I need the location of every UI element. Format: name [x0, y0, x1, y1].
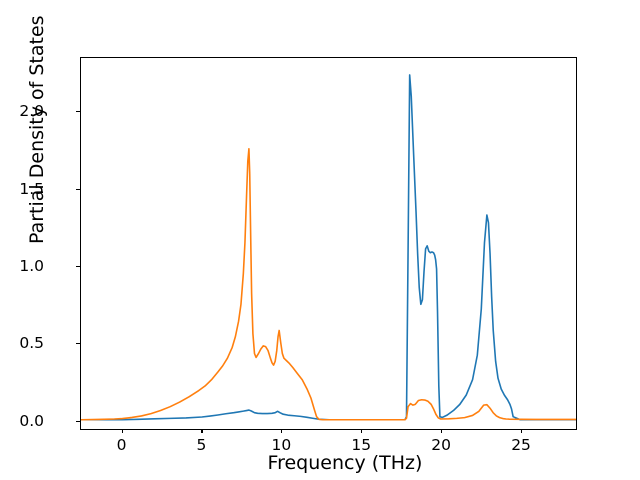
x-tick-mark	[521, 429, 522, 433]
y-tick-label: 0.5	[19, 334, 44, 352]
y-tick-label: 1.0	[19, 257, 44, 275]
x-tick-mark	[441, 429, 442, 433]
plot-svg	[81, 58, 576, 429]
y-tick-mark	[76, 111, 80, 112]
x-tick-mark	[122, 429, 123, 433]
y-tick-mark	[76, 266, 80, 267]
figure-canvas: 0510152025 0.00.51.01.52.0 Frequency (TH…	[0, 0, 640, 480]
x-axis-label-text: Frequency (THz)	[268, 452, 423, 474]
y-axis-label: Partial Density of States	[26, 15, 48, 244]
y-tick-mark	[76, 421, 80, 422]
x-tick-mark	[281, 429, 282, 433]
y-tick-mark	[76, 189, 80, 190]
y-tick-mark	[76, 343, 80, 344]
plot-area	[80, 57, 577, 430]
x-axis-label: Frequency (THz)	[0, 452, 640, 474]
series-line-2	[81, 149, 576, 420]
y-tick-label: 0.0	[19, 412, 44, 430]
x-tick-mark	[361, 429, 362, 433]
series-line-1	[81, 75, 576, 420]
x-tick-mark	[201, 429, 202, 433]
